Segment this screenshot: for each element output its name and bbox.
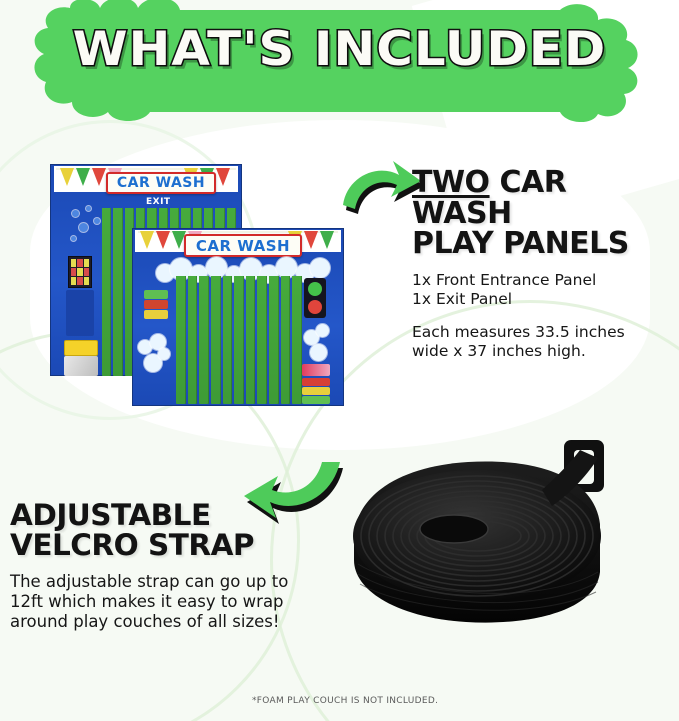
page-title: WHAT'S INCLUDED (0, 22, 679, 77)
car-wash-sign-exit: CAR WASH (106, 172, 216, 194)
control-keypad-exit (68, 256, 92, 288)
service-sign-yellow-entrance (302, 387, 330, 395)
strap-headline-line2: VELCRO STRAP (10, 528, 254, 562)
strap-body: The adjustable strap can go up to 12ft w… (10, 572, 300, 632)
car-wash-sign-entrance: CAR WASH (184, 234, 302, 257)
car-wash-panels-image: CAR WASH EXIT (42, 158, 352, 413)
spray-sign-exit (64, 340, 98, 356)
header-banner: WHAT'S INCLUDED (0, 0, 679, 125)
entrance-panel-photo: CAR WASH (132, 228, 344, 406)
infographic-page: WHAT'S INCLUDED CAR WASH EXIT (0, 0, 679, 721)
pillar-sign-red-entrance (144, 300, 168, 309)
strap-text-block: ADJUSTABLE VELCRO STRAP The adjustable s… (10, 500, 300, 633)
panels-headline: TWO CAR WASH PLAY PANELS (412, 168, 674, 260)
panels-headline-line2: PLAY PANELS (412, 226, 629, 261)
exit-sign-label: EXIT (146, 197, 171, 207)
price-sign-entrance (302, 364, 330, 376)
strap-headline: ADJUSTABLE VELCRO STRAP (10, 500, 300, 560)
fringe-strips-entrance (176, 276, 302, 404)
panels-body-2: Each measures 33.5 inches wide x 37 inch… (412, 323, 674, 361)
service-sign-red-entrance (302, 378, 330, 386)
strap-headline-line1: ADJUSTABLE (10, 498, 211, 532)
spray-nozzle-graphic-exit (64, 356, 98, 376)
service-sign-green-entrance (302, 396, 330, 404)
panels-text-block: TWO CAR WASH PLAY PANELS 1x Front Entran… (412, 168, 674, 360)
footnote-disclaimer: *FOAM PLAY COUCH IS NOT INCLUDED. (252, 696, 438, 706)
velcro-strap-photo (336, 432, 646, 654)
pillar-sign-yellow-entrance (144, 310, 168, 319)
panels-body-1: 1x Front Entrance Panel 1x Exit Panel (412, 271, 674, 309)
control-panel-base-exit (66, 290, 94, 336)
pillar-sign-green-entrance (144, 290, 168, 299)
traffic-light-entrance (304, 278, 326, 318)
